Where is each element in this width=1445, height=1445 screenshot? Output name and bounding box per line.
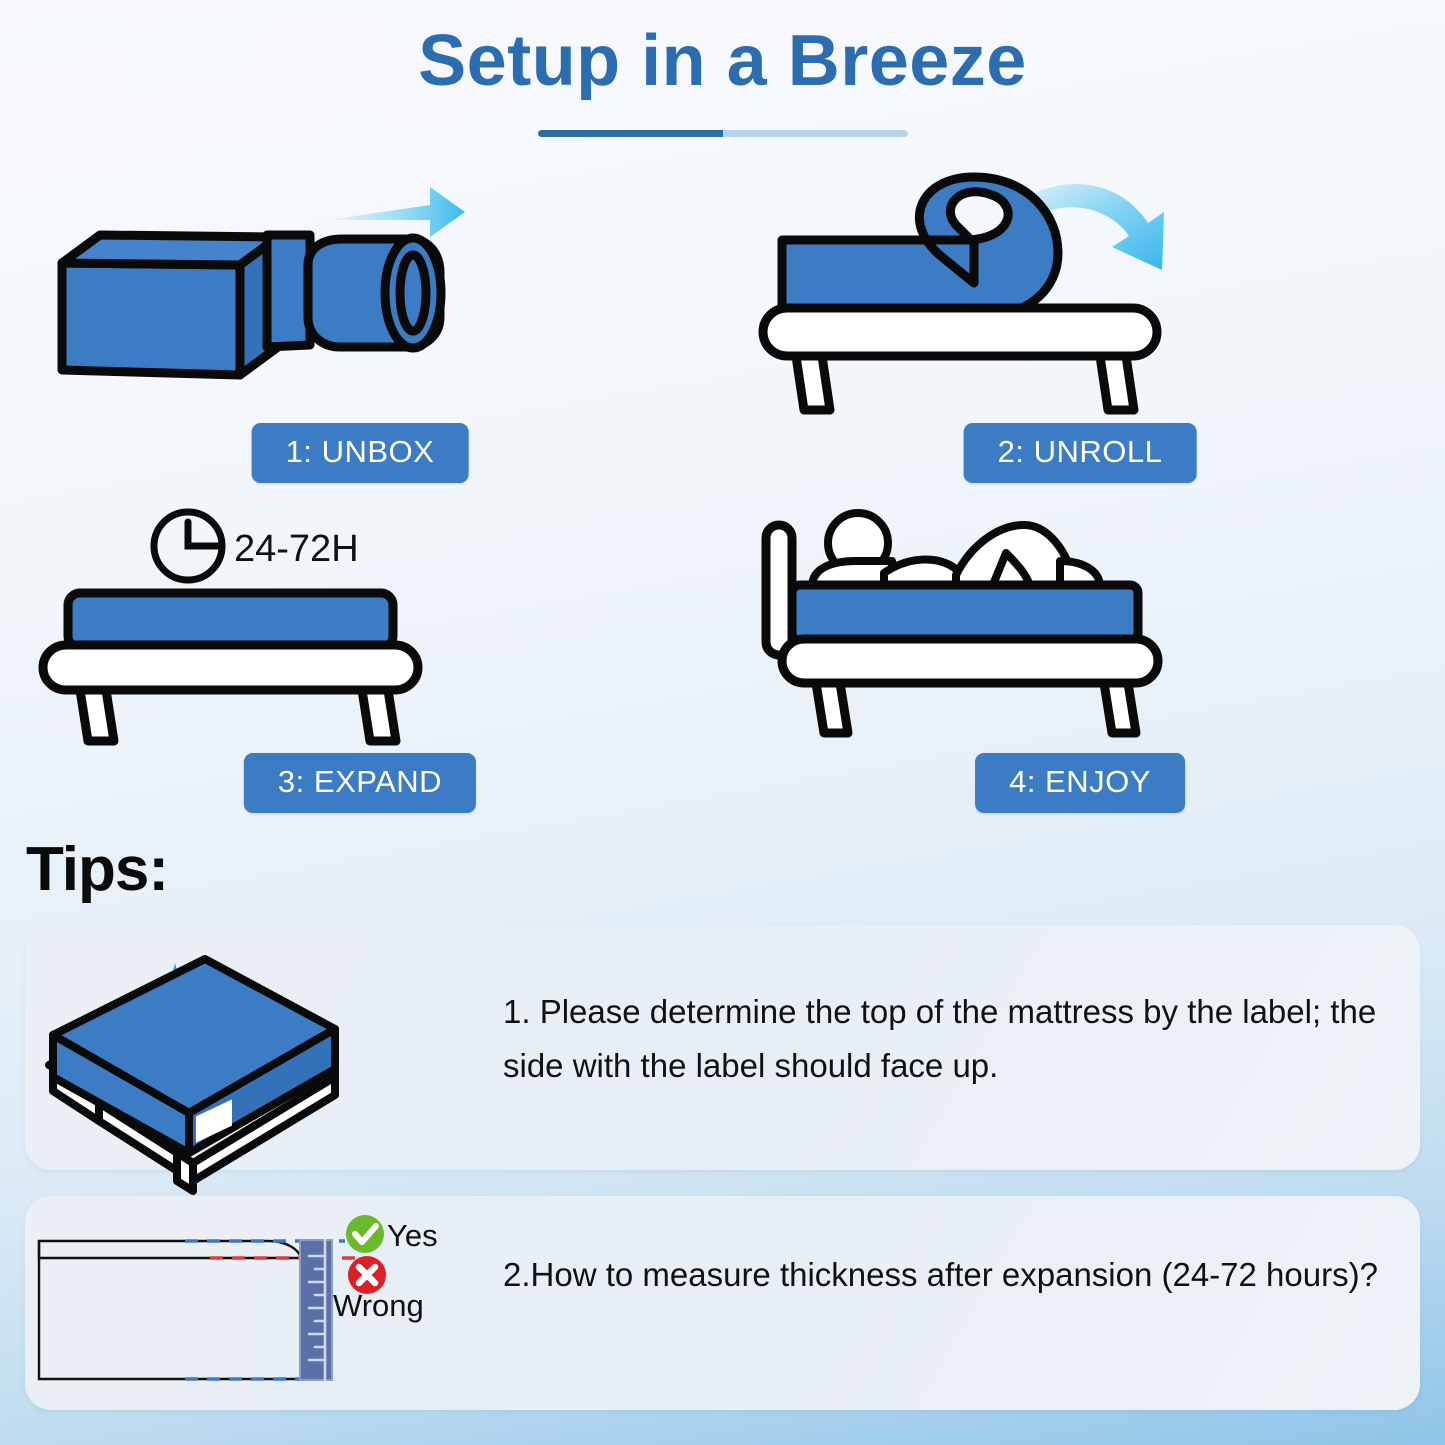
wrong-label: Wrong: [333, 1288, 424, 1323]
divider-dark-segment: [538, 130, 723, 137]
bed-base-icon: [763, 308, 1157, 410]
tips-heading: Tips:: [26, 834, 168, 905]
mattress-cross-section-icon: [39, 1241, 301, 1379]
divider-light-segment: [723, 130, 908, 137]
unrolling-mattress-icon: [782, 177, 1058, 315]
tip-card-label-facing-up: 1. Please determine the top of the mattr…: [25, 925, 1420, 1170]
step-expand: 24-72H 3: EXPAND: [40, 495, 680, 815]
tip-text-label-facing-up: 1. Please determine the top of the mattr…: [503, 985, 1403, 1093]
step-badge-unbox[interactable]: 1: UNBOX: [252, 423, 469, 483]
steps-grid: 1: UNBOX: [0, 165, 1445, 825]
bed-with-headboard-icon: [766, 525, 1158, 733]
correct-label: Yes: [387, 1218, 438, 1253]
step-badge-expand[interactable]: 3: EXPAND: [244, 753, 476, 813]
unbox-illustration: [40, 165, 680, 415]
flat-mattress-bed-icon: [43, 593, 418, 741]
tip-text-measure-thickness: 2.How to measure thickness after expansi…: [503, 1248, 1383, 1302]
box-icon: [62, 235, 278, 375]
isometric-mattress-on-frame-icon: [49, 959, 335, 1191]
step-badge-enjoy[interactable]: 4: ENJOY: [975, 753, 1185, 813]
expand-illustration: 24-72H: [40, 495, 680, 745]
rolled-mattress-icon: [267, 235, 441, 348]
person-sleeping-icon: [812, 513, 1100, 587]
page-title: Setup in a Breeze: [0, 22, 1445, 101]
enjoy-illustration: [760, 495, 1400, 745]
tip1-illustration: [25, 925, 495, 1170]
title-divider: [538, 130, 908, 137]
step-unroll: 2: UNROLL: [760, 165, 1400, 485]
tip-card-measure-thickness: Yes Wrong 2.How to measure thickness aft…: [25, 1196, 1420, 1410]
step-enjoy: 4: ENJOY: [760, 495, 1400, 815]
expand-duration-text: 24-72H: [234, 528, 359, 570]
step-unbox: 1: UNBOX: [40, 165, 680, 485]
ruler-icon: [300, 1240, 332, 1380]
clock-icon: [154, 512, 222, 580]
check-circle-icon: [346, 1215, 384, 1253]
infographic-page: Setup in a Breeze: [0, 0, 1445, 1445]
unroll-illustration: [760, 165, 1400, 415]
step-badge-unroll[interactable]: 2: UNROLL: [964, 423, 1197, 483]
straight-arrow-icon: [328, 187, 465, 237]
tip2-illustration: Yes Wrong: [25, 1196, 495, 1410]
